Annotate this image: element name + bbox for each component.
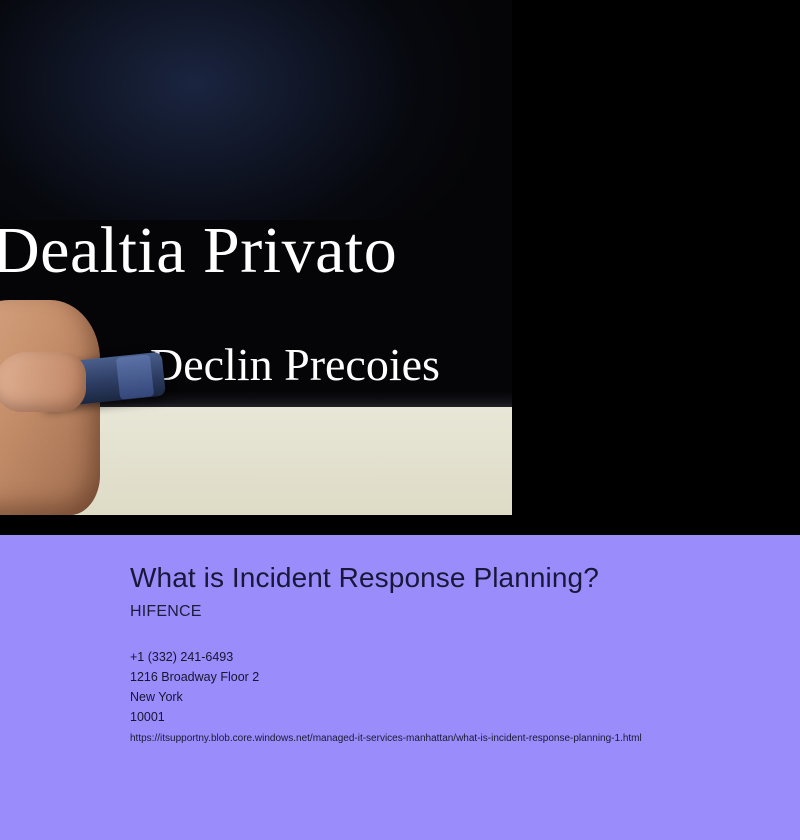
content-panel: What is Incident Response Planning? HIFE… (0, 535, 800, 840)
contact-zip: 10001 (130, 707, 259, 727)
hero-image-band: Dealtia Privato Declin Precoies (0, 0, 800, 535)
contact-city: New York (130, 687, 259, 707)
photo-glow (0, 0, 480, 220)
page-title: What is Incident Response Planning? (130, 562, 599, 594)
photo-sign-text-line-1: Dealtia Privato (0, 218, 512, 284)
hero-black-filler-bottom (0, 515, 512, 535)
photo-sign-text-line-2: Declin Precoies (150, 342, 512, 388)
thumb-shape (0, 352, 86, 412)
source-url-link[interactable]: https://itsupportny.blob.core.windows.ne… (130, 733, 642, 744)
contact-phone: +1 (332) 241-6493 (130, 647, 259, 667)
contact-block: +1 (332) 241-6493 1216 Broadway Floor 2 … (130, 647, 259, 727)
hero-black-filler-right (512, 0, 800, 535)
page-root: Dealtia Privato Declin Precoies What is … (0, 0, 800, 840)
hero-photo: Dealtia Privato Declin Precoies (0, 0, 512, 515)
brand-name: HIFENCE (130, 603, 202, 621)
stylus-tip-shape (116, 354, 154, 399)
contact-address-line-1: 1216 Broadway Floor 2 (130, 667, 259, 687)
